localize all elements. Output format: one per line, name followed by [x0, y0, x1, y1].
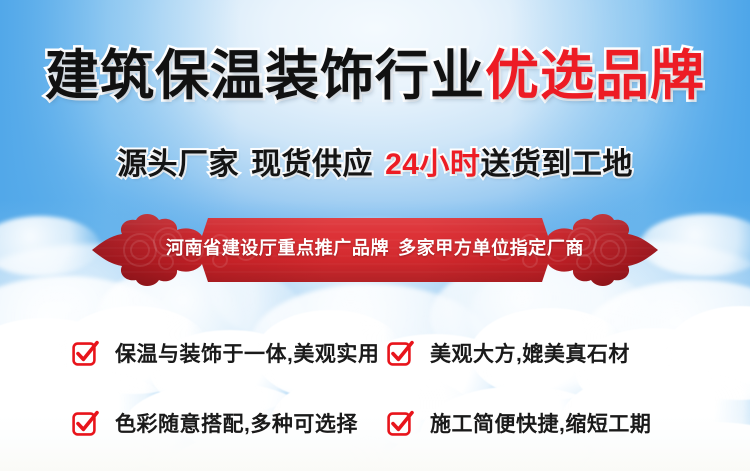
feature-item-4: 施工简便快捷,缩短工期	[387, 388, 712, 458]
checkbox-checked-icon	[72, 410, 98, 436]
checkbox-checked-icon	[72, 340, 98, 366]
checkbox-checked-icon	[387, 340, 413, 366]
award-ribbon: 河南省建设厅重点推广品牌多家甲方单位指定厂商	[88, 206, 662, 286]
ribbon-text-right: 多家甲方单位指定厂商	[398, 238, 584, 258]
feature-list: 保温与装饰于一体,美观实用 美观大方,媲美真石材	[72, 318, 712, 458]
page-subtitle: 源头厂家现货供应24小时送货到工地	[0, 139, 750, 183]
subtitle-red-highlight: 24小时	[385, 148, 480, 181]
checkbox-checked-icon	[387, 410, 413, 436]
subtitle-part-1: 源头厂家	[117, 148, 239, 181]
headline-black-text: 建筑保温装饰行业	[45, 46, 485, 106]
page-title: 建筑保温装饰行业优选品牌	[0, 46, 750, 106]
feature-item-3: 色彩随意搭配,多种可选择	[72, 388, 387, 458]
promo-banner: 建筑保温装饰行业优选品牌 源头厂家现货供应24小时送货到工地	[0, 0, 750, 471]
subtitle-part-2: 现货供应	[251, 148, 373, 181]
feature-item-2: 美观大方,媲美真石材	[387, 318, 712, 388]
ribbon-caption: 河南省建设厅重点推广品牌多家甲方单位指定厂商	[88, 234, 662, 260]
feature-item-1: 保温与装饰于一体,美观实用	[72, 318, 387, 388]
feature-label: 美观大方,媲美真石材	[430, 338, 630, 368]
feature-row-2: 色彩随意搭配,多种可选择 施工简便快捷,缩短工期	[72, 388, 712, 458]
feature-label: 保温与装饰于一体,美观实用	[115, 338, 379, 368]
feature-label: 施工简便快捷,缩短工期	[430, 408, 651, 438]
feature-label: 色彩随意搭配,多种可选择	[115, 408, 358, 438]
ribbon-text-left: 河南省建设厅重点推广品牌	[166, 238, 389, 258]
feature-row-1: 保温与装饰于一体,美观实用 美观大方,媲美真石材	[72, 318, 712, 388]
subtitle-part-3: 送货到工地	[480, 148, 633, 181]
headline-red-text: 优选品牌	[485, 46, 705, 106]
